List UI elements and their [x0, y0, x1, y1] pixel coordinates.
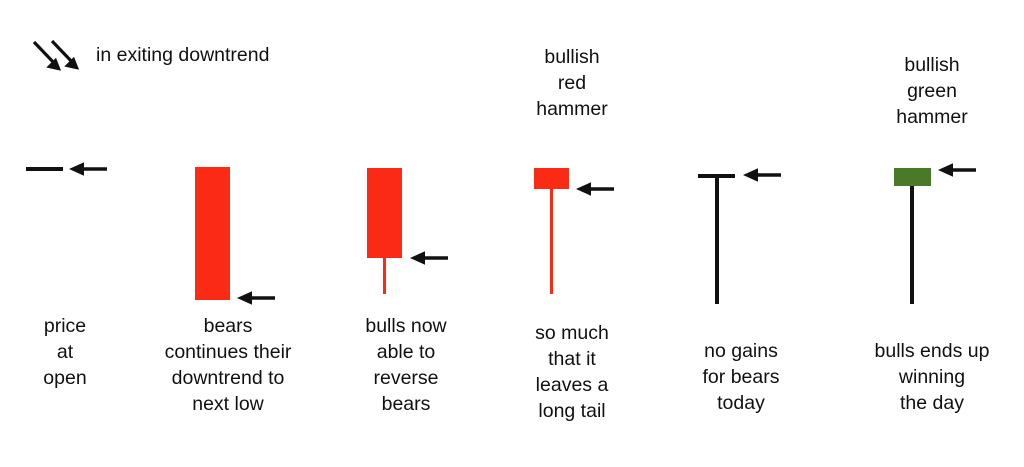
column-no-gains-for-bears: no gains for bears today [660, 0, 822, 467]
caption-line: at [0, 339, 130, 365]
candle-black-t-hammer [660, 0, 822, 310]
caption-line: downtrend to [140, 365, 316, 391]
caption-line: bulls ends up [840, 338, 1024, 364]
caption-bulls-reverse: bulls now able to reverse bears [326, 313, 486, 417]
caption-line: open [0, 365, 130, 391]
candle-body-red [195, 167, 230, 300]
caption-line: price [0, 313, 130, 339]
caption-line: bulls now [326, 313, 486, 339]
candle-lower-wick-black [715, 177, 719, 304]
column-bulls-reverse: bulls now able to reverse bears [326, 0, 486, 467]
caption-line: so much [494, 320, 650, 346]
caption-line: bears [326, 391, 486, 417]
left-arrow-icon [236, 289, 276, 307]
candle-lower-wick-red [550, 186, 553, 294]
caption-line: long tail [494, 398, 650, 424]
caption-line: the day [840, 390, 1024, 416]
column-bears-continue: bears continues their downtrend to next … [140, 0, 316, 467]
caption-line: continues their [140, 339, 316, 365]
caption-bullish-red-hammer: so much that it leaves a long tail [494, 320, 650, 424]
caption-bears-continue: bears continues their downtrend to next … [140, 313, 316, 417]
candle-body-red [534, 168, 569, 189]
caption-line: winning [840, 364, 1024, 390]
caption-line: leaves a [494, 372, 650, 398]
candle-body-green [894, 168, 931, 186]
candle-red-long-body [140, 0, 316, 310]
left-arrow-icon [937, 161, 977, 179]
column-price-at-open: price at open [0, 0, 130, 467]
column-bullish-green-hammer: bullish green hammer bulls ends up winni… [840, 0, 1024, 467]
candle-green-hammer [840, 0, 1024, 310]
candlestick-diagram-canvas: in exiting downtrend price at open [0, 0, 1024, 467]
caption-line: next low [140, 391, 316, 417]
caption-line: bears [140, 313, 316, 339]
open-price-tick [26, 167, 63, 171]
caption-bullish-green-hammer: bulls ends up winning the day [840, 338, 1024, 416]
caption-line: able to [326, 339, 486, 365]
candle-lower-wick-red [383, 256, 386, 294]
caption-line: that it [494, 346, 650, 372]
left-arrow-icon [742, 166, 782, 184]
caption-no-gains-for-bears: no gains for bears today [660, 338, 822, 416]
candle-lower-wick-black [910, 184, 914, 304]
candle-open-tick [0, 0, 130, 310]
left-arrow-icon [575, 180, 615, 198]
caption-line: for bears [660, 364, 822, 390]
left-arrow-icon [68, 160, 108, 178]
column-bullish-red-hammer: bullish red hammer so much that it leave… [494, 0, 650, 467]
candle-red-body-with-lower-wick [326, 0, 486, 310]
caption-price-at-open: price at open [0, 313, 130, 391]
caption-line: today [660, 390, 822, 416]
caption-line: reverse [326, 365, 486, 391]
left-arrow-icon [409, 249, 449, 267]
caption-line: no gains [660, 338, 822, 364]
candle-red-hammer [494, 0, 650, 310]
candle-body-red [367, 168, 402, 258]
